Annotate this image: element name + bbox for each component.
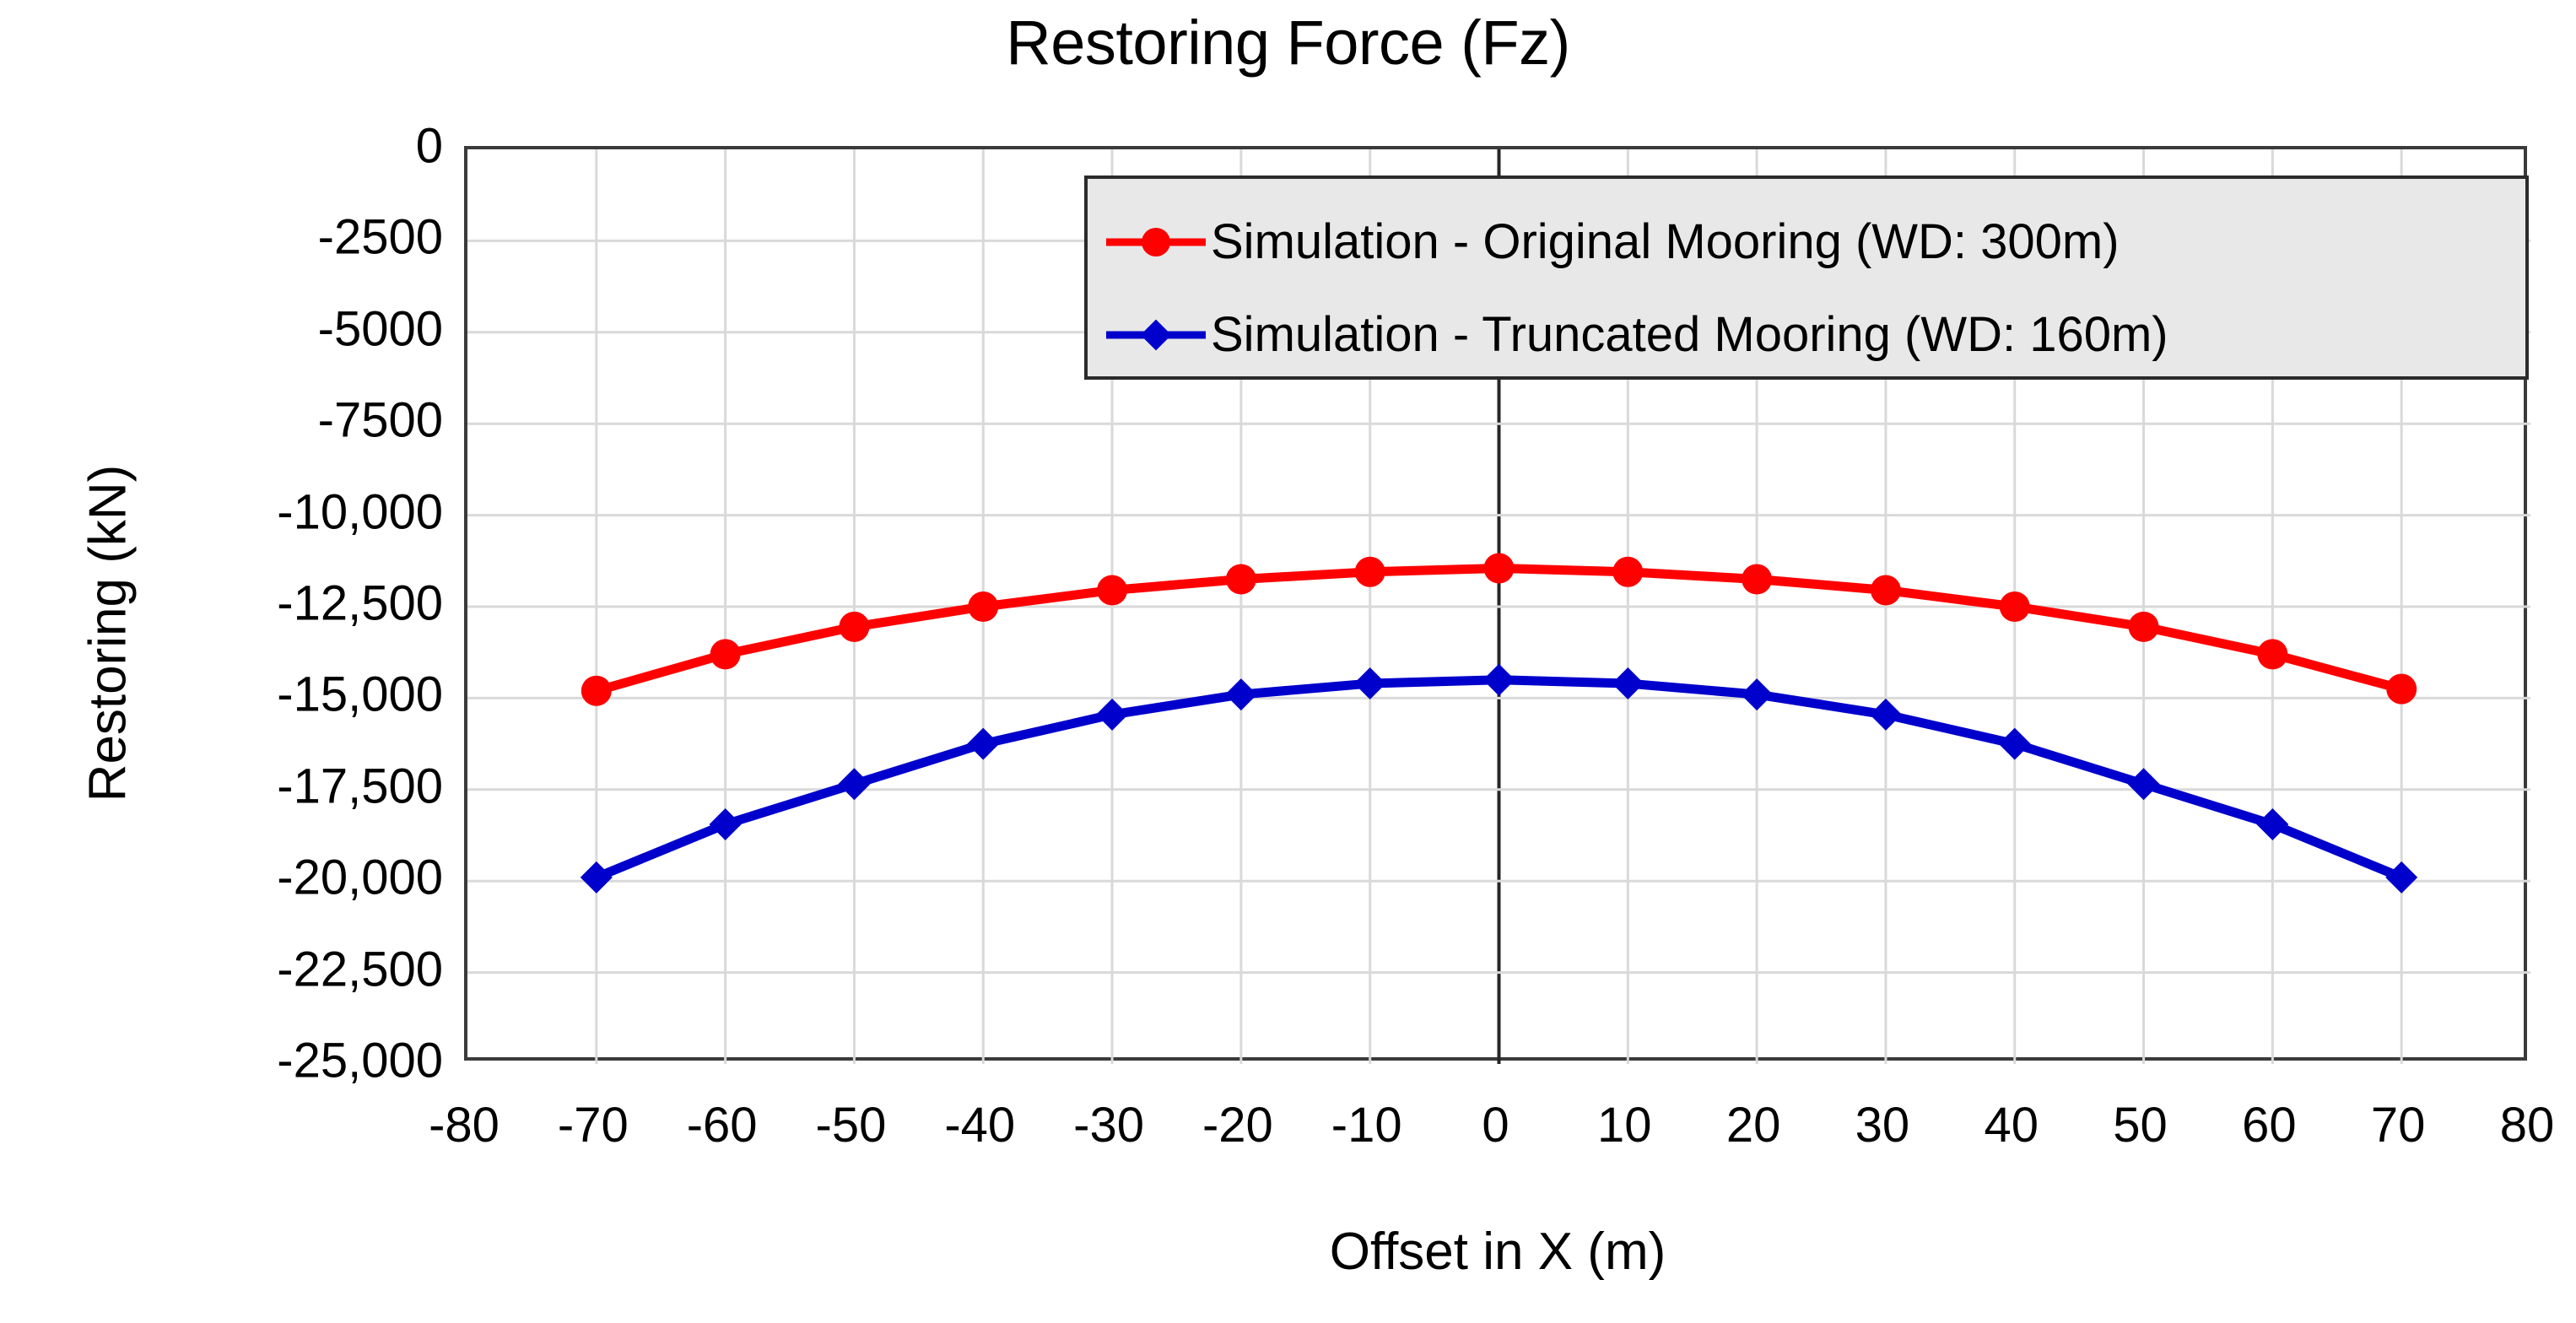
x-axis-tick-label: -30 (1007, 1097, 1210, 1153)
chart-canvas: Restoring Force (Fz) Restoring (kN) Offs… (0, 0, 2576, 1323)
data-point-diamond (1225, 678, 1257, 710)
data-point-circle (2129, 612, 2159, 642)
data-point-circle (710, 639, 741, 669)
data-point-diamond (710, 808, 742, 840)
x-axis-tick-label: -60 (621, 1097, 824, 1153)
data-point-diamond (1741, 678, 1773, 710)
data-point-circle (1097, 575, 1127, 605)
data-point-diamond (1354, 667, 1386, 699)
data-point-diamond (2385, 861, 2417, 894)
x-axis-tick-label: 50 (2039, 1097, 2242, 1153)
y-axis-tick-label: 0 (59, 118, 443, 175)
data-point-circle (1742, 564, 1772, 594)
legend-swatch-red-circle (1106, 225, 1206, 259)
data-point-diamond (2256, 808, 2288, 840)
x-axis-tick-label: -10 (1266, 1097, 1468, 1153)
data-point-circle (1226, 564, 1256, 594)
x-axis-tick-label: 0 (1395, 1097, 1597, 1153)
x-axis-tick-label: 60 (2168, 1097, 2370, 1153)
data-point-circle (2386, 674, 2417, 705)
x-axis-tick-label: 40 (1910, 1097, 2113, 1153)
data-point-diamond (1999, 728, 2031, 760)
legend-entry-original-mooring[interactable]: Simulation - Original Mooring (WD: 300m) (1106, 213, 2120, 272)
circle-marker-icon (1142, 228, 1170, 256)
data-point-circle (968, 591, 998, 622)
diamond-marker-icon (1141, 320, 1172, 351)
data-point-diamond (1096, 699, 1128, 731)
data-point-diamond (838, 768, 870, 800)
x-axis-tick-label: -80 (363, 1097, 565, 1153)
data-point-circle (839, 612, 869, 642)
x-axis-tick-label: 30 (1781, 1097, 1984, 1153)
data-point-circle (1355, 557, 1385, 587)
data-point-diamond (967, 728, 999, 760)
data-point-circle (1612, 557, 1643, 587)
y-axis-title: Restoring (kN) (78, 212, 138, 1056)
data-point-circle (2257, 639, 2287, 669)
x-axis-tick-label: -40 (878, 1097, 1081, 1153)
x-axis-tick-label: 20 (1652, 1097, 1855, 1153)
data-point-circle (581, 676, 612, 706)
data-point-circle (2000, 591, 2030, 622)
x-axis-tick-label: -20 (1137, 1097, 1339, 1153)
x-axis-tick-label: -50 (749, 1097, 952, 1153)
legend-entry-truncated-mooring[interactable]: Simulation - Truncated Mooring (WD: 160m… (1106, 305, 2168, 364)
legend-label-original-mooring: Simulation - Original Mooring (WD: 300m) (1211, 218, 2120, 267)
chart-legend[interactable]: Simulation - Original Mooring (WD: 300m)… (1084, 175, 2529, 380)
x-axis-title: Offset in X (m) (464, 1222, 2531, 1282)
data-point-diamond (1612, 667, 1644, 699)
x-axis-tick-label: 80 (2426, 1097, 2576, 1153)
data-point-diamond (2128, 768, 2160, 800)
data-point-circle (1484, 553, 1515, 583)
data-point-diamond (581, 861, 613, 894)
x-axis-tick-label: 70 (2297, 1097, 2499, 1153)
legend-label-truncated-mooring: Simulation - Truncated Mooring (WD: 160m… (1211, 310, 2168, 359)
legend-swatch-blue-diamond (1106, 318, 1206, 352)
data-point-diamond (1870, 699, 1902, 731)
chart-title: Restoring Force (Fz) (0, 8, 2576, 77)
x-axis-tick-label: 10 (1523, 1097, 1725, 1153)
x-axis-tick-label: -70 (492, 1097, 694, 1153)
data-point-diamond (1483, 664, 1515, 696)
data-point-circle (1871, 575, 1901, 605)
